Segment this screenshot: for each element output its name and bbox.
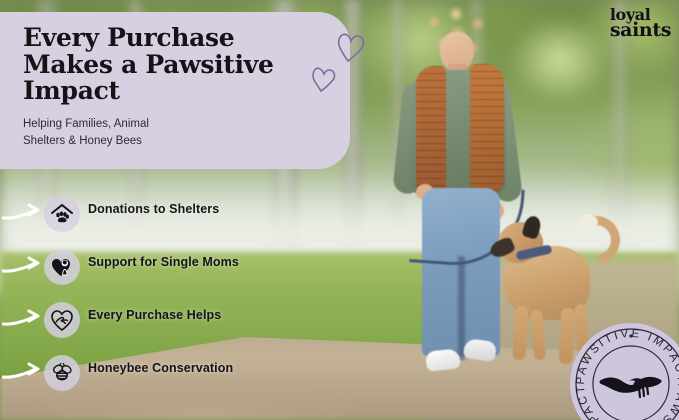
subtitle-line-1: Helping Families, Animal xyxy=(23,116,332,134)
headline-line-2: Makes a Pawsitive xyxy=(23,52,332,79)
honeybee-icon xyxy=(44,355,80,391)
heart-person-icon xyxy=(44,249,80,285)
list-item[interactable]: Honeybee Conservation xyxy=(0,349,300,402)
arrow-icon xyxy=(2,308,42,330)
white-sneaker xyxy=(425,348,461,371)
feature-list: Donations to Shelters Support for Single… xyxy=(0,190,300,402)
list-item-label: Support for Single Moms xyxy=(88,255,239,269)
list-item-label: Every Purchase Helps xyxy=(88,308,221,322)
headline-line-3: Impact xyxy=(23,78,332,105)
dog-tail-tip xyxy=(578,214,598,230)
shelter-paw-icon xyxy=(44,196,80,232)
list-item[interactable]: Every Purchase Helps xyxy=(0,296,300,349)
page-subtitle: Helping Families, Animal Shelters & Hone… xyxy=(23,116,332,152)
subtitle-line-2: Shelters & Honey Bees xyxy=(23,133,332,151)
page-title: Every Purchase Makes a Pawsitive Impact xyxy=(23,25,332,105)
list-item-label: Honeybee Conservation xyxy=(88,361,233,375)
brand-logo[interactable]: loyal saints xyxy=(610,7,671,40)
arrow-icon xyxy=(2,361,42,383)
headline-panel: Every Purchase Makes a Pawsitive Impact … xyxy=(0,12,350,169)
arrow-icon xyxy=(2,255,42,277)
list-item-label: Donations to Shelters xyxy=(88,202,219,216)
headline-line-1: Every Purchase xyxy=(23,25,332,52)
list-item[interactable]: Support for Single Moms xyxy=(0,243,300,296)
headline-panel-content: Every Purchase Makes a Pawsitive Impact … xyxy=(0,12,350,169)
brand-logo-line-2: saints xyxy=(610,22,671,40)
puffer-vest-left xyxy=(416,66,446,198)
dog-leg xyxy=(512,306,529,361)
arrow-icon xyxy=(2,202,42,224)
heart-hand-icon xyxy=(44,302,80,338)
list-item[interactable]: Donations to Shelters xyxy=(0,190,300,243)
leg-separation xyxy=(458,256,465,360)
puffer-vest-right xyxy=(470,64,504,194)
status-badge: PAWSITIVE IMPACT PAWSITIVE IMPACT xyxy=(569,322,679,420)
